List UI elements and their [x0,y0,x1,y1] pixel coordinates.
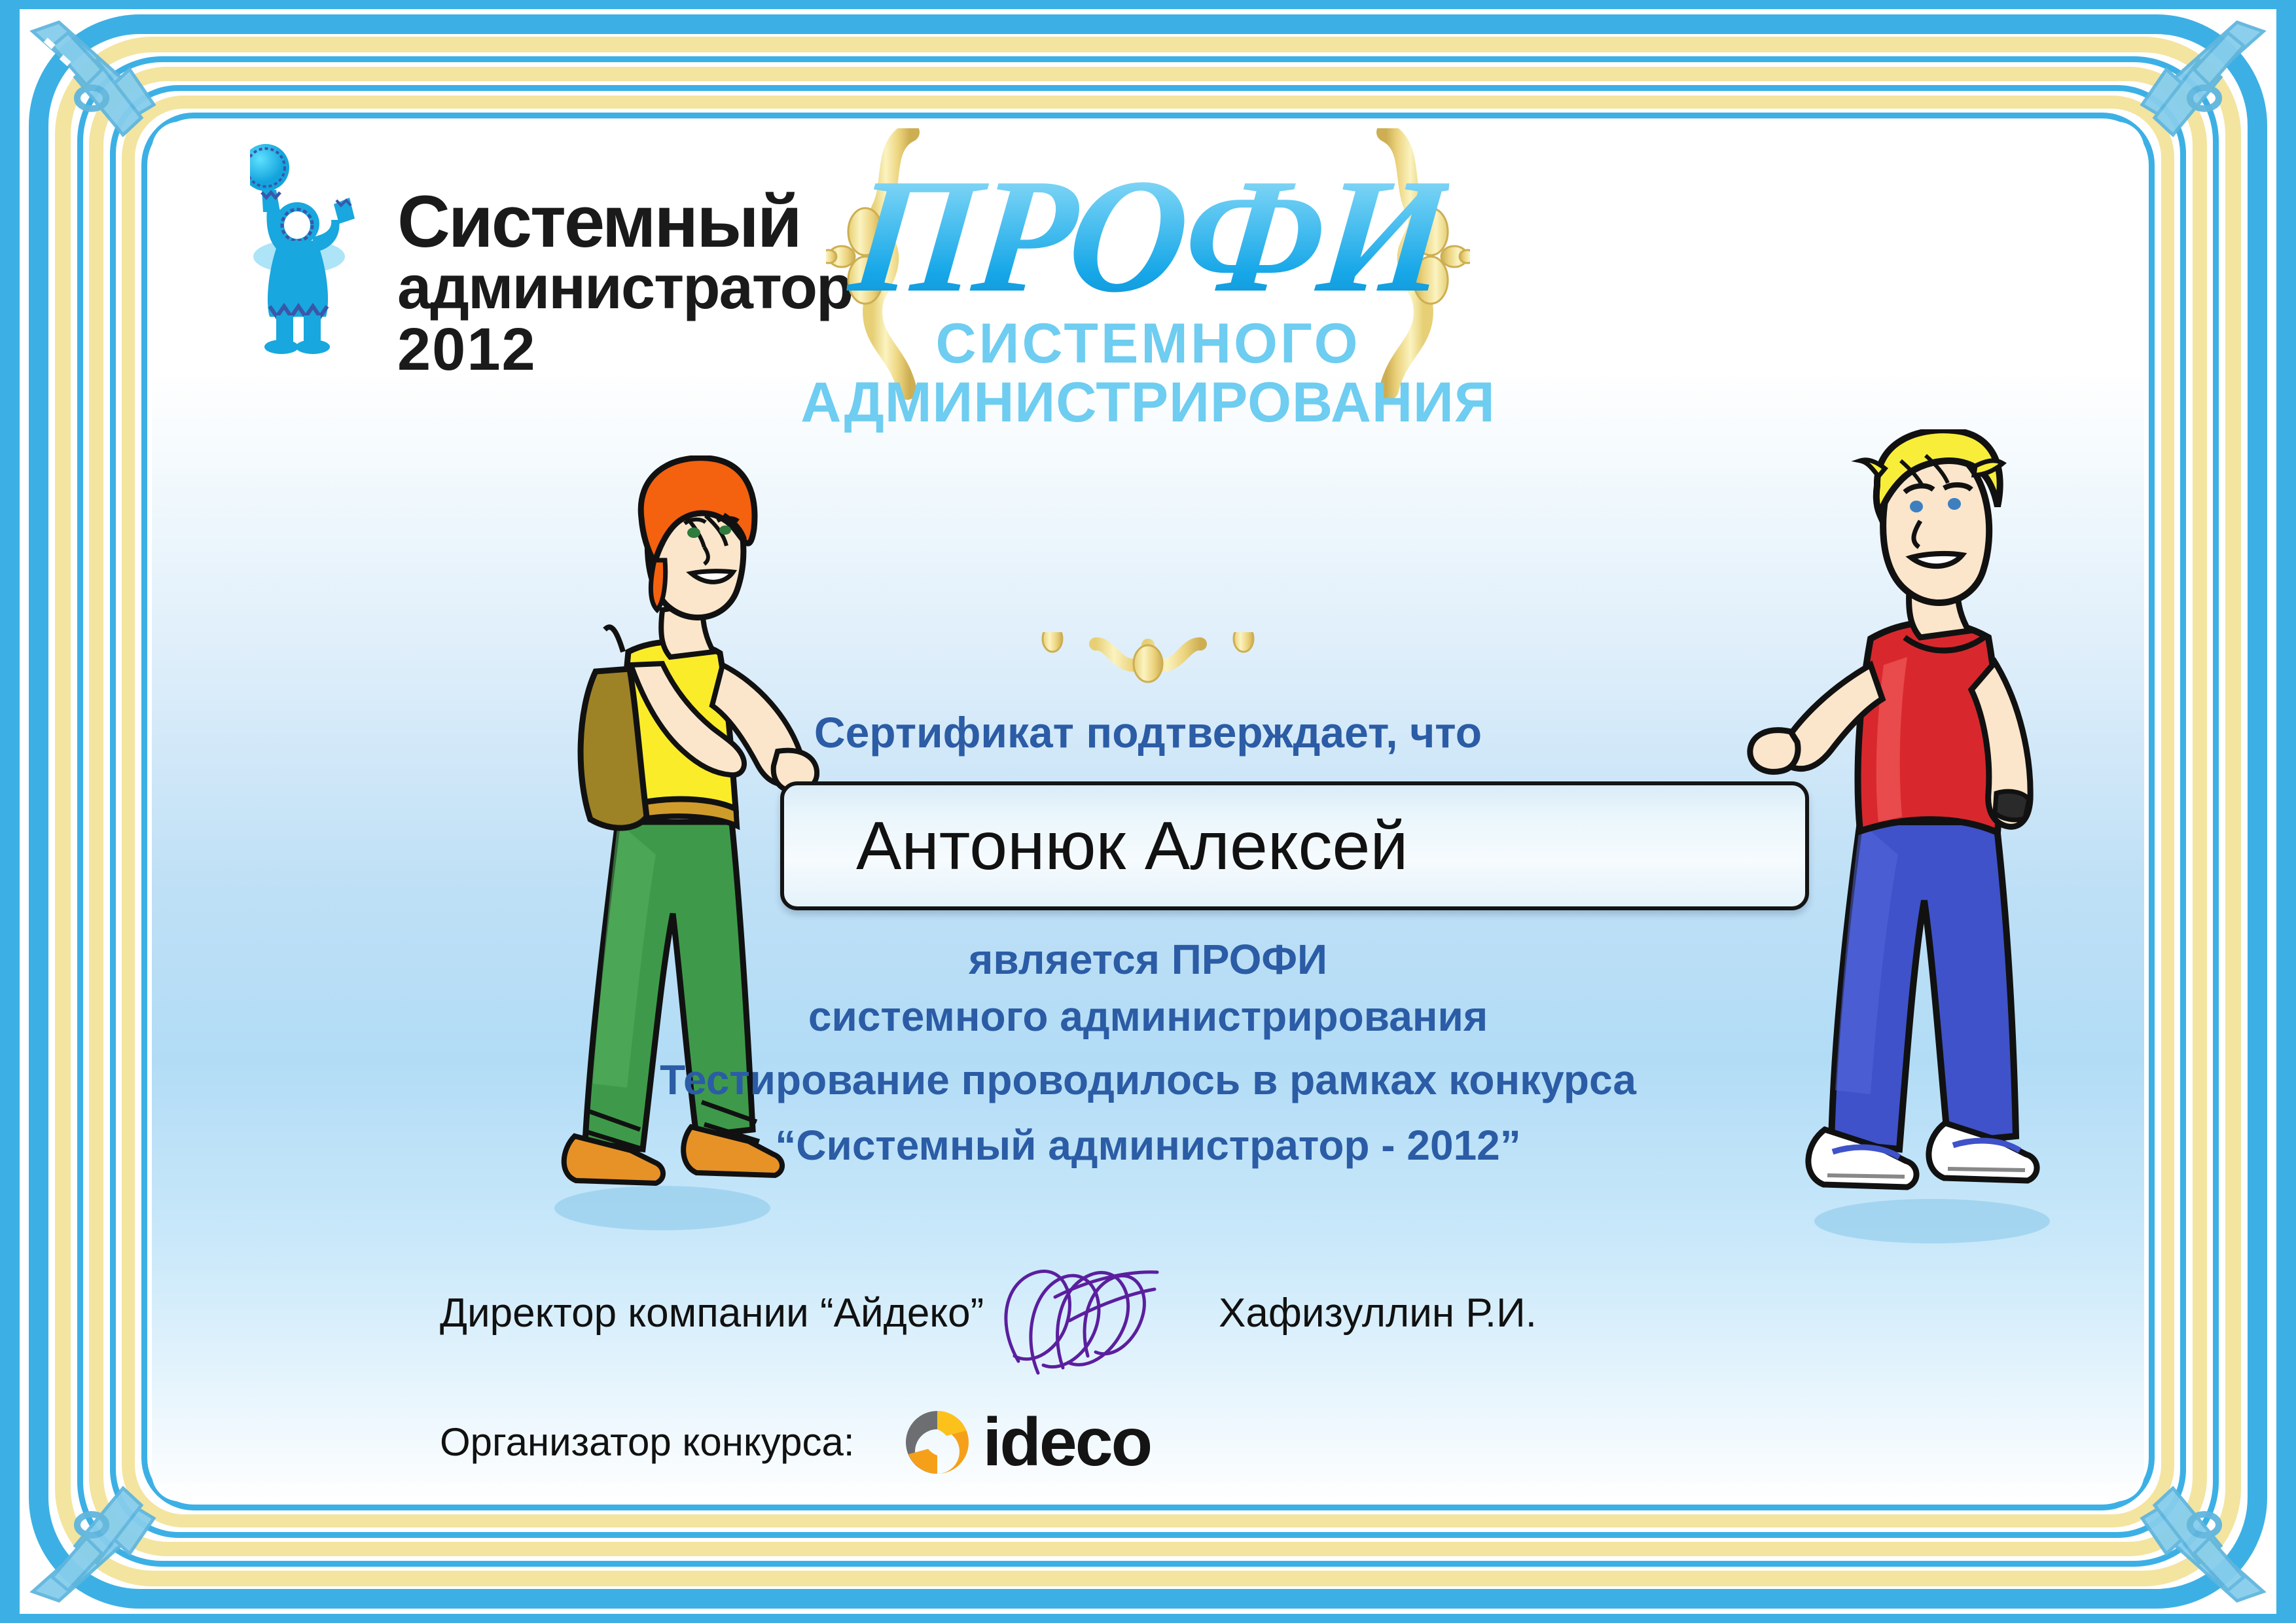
title-block: ПРОФИ СИСТЕМНОГО АДМИНИСТРИРОВАНИЯ [152,154,2144,433]
signature-signer-name: Хафизуллин Р.И. [1219,1293,1537,1334]
recipient-name-field: Антонюк Алексей [780,781,1809,910]
page-title: ПРОФИ [844,154,1453,318]
bash-wordmark: bash.im [1947,1494,2144,1501]
ideco-logo: ideco [901,1406,1151,1479]
certificate-body-line-1: является ПРОФИ [152,938,2144,980]
certificate-body-line-4: “Системный администратор - 2012” [152,1124,2144,1166]
golden-flourish-icon [1024,632,1272,691]
recipient-name: Антонюк Алексей [784,812,1408,880]
partner-logo-bash-im: bash.im ЦИТАТНИК РУНЕТА [1947,1494,2144,1501]
organizer-label: Организатор конкурса: [440,1423,855,1462]
organizer-row: Организатор конкурса: ideco [440,1397,1151,1488]
certificate-canvas: Системный администратор 2012 [152,122,2144,1501]
handwritten-signature [990,1258,1173,1382]
partner-logos: KASPERSKY lab Sky DNS Системный [845,1494,2144,1501]
certificate-body-line-2: системного администрирования [152,995,2144,1037]
signature-row: Директор компании “Айдеко” Хафизуллин Р.… [440,1285,1618,1357]
certificate-confirms-label: Сертификат подтверждает, что [152,711,2144,754]
certificate-body-line-3: Тестирование проводилось в рамках конкур… [152,1059,2144,1101]
title-subtitle-2: АДМИНИСТРИРОВАНИЯ [152,373,2144,432]
certificate-page: Системный администратор 2012 [0,0,2296,1623]
ideco-wordmark: ideco [983,1408,1151,1476]
ideco-ring-icon [901,1406,974,1479]
signature-label: Директор компании “Айдеко” [440,1293,984,1334]
